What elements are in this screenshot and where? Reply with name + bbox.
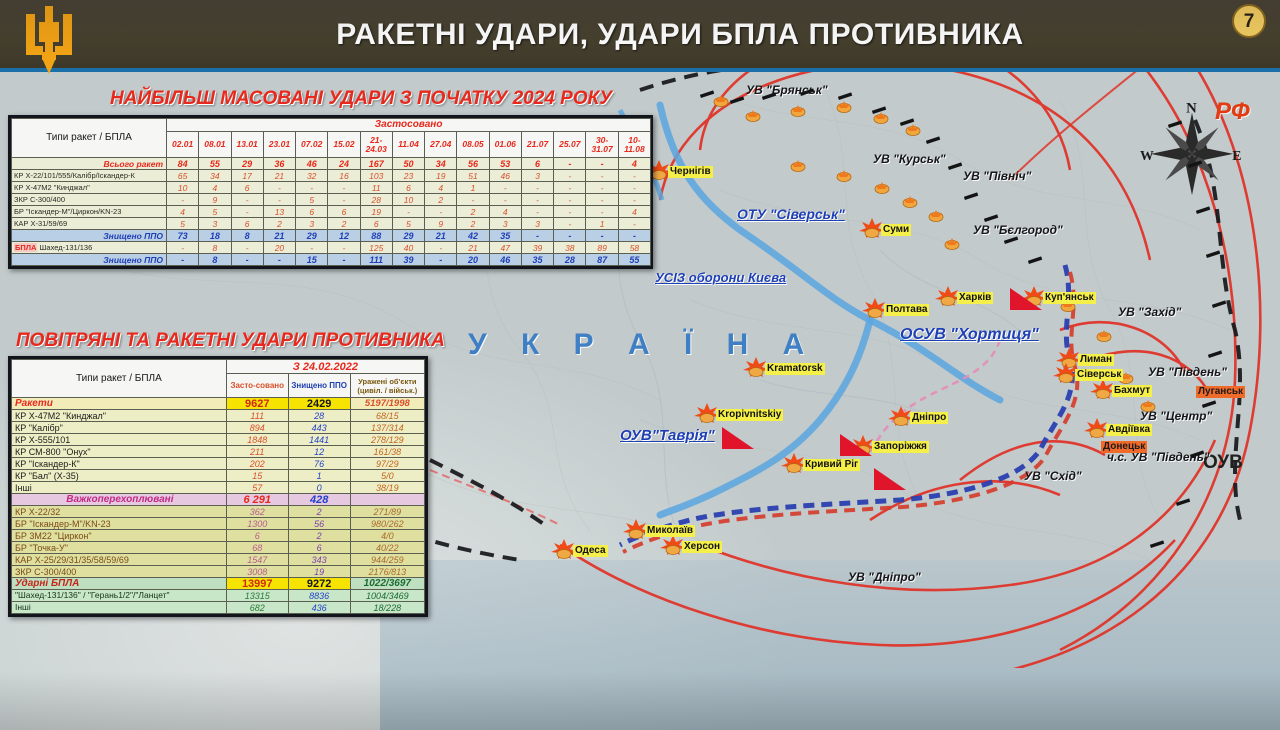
table2-cell-destroyed: 2429 (288, 398, 350, 410)
table1-cell: 46 (489, 254, 521, 266)
table1-date-header-0: 02.01 (167, 132, 199, 158)
table1-cell: 29 (296, 230, 328, 242)
table1-date-header-7: 11.04 (392, 132, 424, 158)
table1-row: ЗКР С-300/400-9--5-28102------ (12, 194, 651, 206)
table2-row: КР СМ-800 "Онyx"21112161/38 (12, 446, 425, 458)
table1-cell: 3 (489, 218, 521, 230)
table1-cell: 5 (296, 194, 328, 206)
formation-label-0: ОТУ "Сіверськ" (737, 206, 845, 222)
table2-row: КР Х-22/323622271/89 (12, 506, 425, 518)
table1-date-header-14: 10-11.08 (618, 132, 650, 158)
table1-cell: - (263, 194, 295, 206)
table2-row-label: БР 3М22 "Циркон" (12, 530, 227, 542)
city-label-kramatorsk: Kramatorsk (765, 363, 825, 375)
enemy-thrust-arrow-icon (872, 106, 890, 114)
enemy-thrust-arrow-icon (1206, 250, 1224, 258)
table1-cell: - (554, 230, 586, 242)
table2-row: Інші57038/19 (12, 482, 425, 494)
enemy-thrust-arrow-icon (984, 214, 1002, 222)
table1-cell: - (618, 182, 650, 194)
enemy-thrust-arrow-icon (900, 118, 918, 126)
table1-cell: 58 (618, 242, 650, 254)
table1-row-label: Знищено ППО (12, 254, 167, 266)
table1-row: Знищено ППО731882129128829214235---- (12, 230, 651, 242)
table1-cell: 2 (457, 206, 489, 218)
table1-cell: 6 (521, 158, 553, 170)
slide-number-badge: 7 (1232, 4, 1266, 38)
city-label--: Донецьк (1101, 441, 1147, 453)
table2-cell-destroyed: 19 (288, 566, 350, 578)
table1-cell: 3 (521, 218, 553, 230)
table2-cell-destroyed: 436 (288, 602, 350, 614)
table2-cell-destroyed: 0 (288, 482, 350, 494)
table2-row-label: ЗКР С-300/400 (12, 566, 227, 578)
table2-row: КР Х-555/10118481441278/129 (12, 434, 425, 446)
table2-row: БР "Точка-У"68640/22 (12, 542, 425, 554)
table1-cell: 19 (425, 170, 457, 182)
table2-row-label: КР "Калібр" (12, 422, 227, 434)
table1-cell: 12 (328, 230, 360, 242)
formation-label-3: ОУВ"Таврія" (620, 427, 715, 444)
table1-cell: 39 (392, 254, 424, 266)
table1-cell: - (554, 170, 586, 182)
table1-cell: - (554, 182, 586, 194)
table2-row: КАР Х-25/29/31/35/58/59/691547343944/259 (12, 554, 425, 566)
strike-marker-icon (902, 196, 918, 208)
table1-date-header-9: 08.05 (457, 132, 489, 158)
table1-cell: - (586, 206, 618, 218)
table2-row-label: Інші (12, 482, 227, 494)
table1-row: КР Х-22/101/555/Калібр/Іскандер-К6534172… (12, 170, 651, 182)
table1-cell: 73 (167, 230, 199, 242)
table1-cell: - (521, 230, 553, 242)
table1-cell: 36 (263, 158, 295, 170)
table1-cell: 13 (263, 206, 295, 218)
table2-panel: Типи ракет / БПЛА З 24.02.2022 Засто-сов… (8, 356, 428, 617)
table1-cell: - (521, 182, 553, 194)
table2-row-label: Важкоперехоплювані (12, 494, 227, 506)
table2-row: КР "Іскандер-К"2027697/29 (12, 458, 425, 470)
table1-cell: 46 (296, 158, 328, 170)
city-label--: Харків (957, 292, 993, 304)
table1-cell: 34 (199, 170, 231, 182)
table2-cell-destroyed: 76 (288, 458, 350, 470)
table2-cell-used: 57 (226, 482, 288, 494)
uav-tag: БПЛА (14, 243, 37, 252)
table2-cell-destroyed: 28 (288, 410, 350, 422)
strike-marker-icon (928, 210, 944, 222)
table1-cell: 6 (392, 182, 424, 194)
table1-cell: 4 (489, 206, 521, 218)
table1-cell: 23 (392, 170, 424, 182)
table1-row-label: КАР Х-31/59/69 (12, 218, 167, 230)
enemy-thrust-arrow-icon (730, 96, 748, 104)
table1-cell: 2 (457, 218, 489, 230)
table2-cell-used: 6 291 (226, 494, 288, 506)
table1-row: БР "Іскандер-М"/Циркон/KN-2345-136619--2… (12, 206, 651, 218)
enemy-thrust-arrow-icon (1208, 350, 1226, 358)
enemy-group-label-4: УВ "Захід" (1118, 305, 1181, 319)
red-wedge-marker-icon (838, 432, 874, 458)
table1-row: КАР Х-31/59/69536232659233-1- (12, 218, 651, 230)
table1-cell: 4 (425, 182, 457, 194)
table1-cell: 1 (586, 218, 618, 230)
table1-row-label: Знищено ППО (12, 230, 167, 242)
table1-cell: 5 (392, 218, 424, 230)
table1-row: Всього ракет845529364624167503456536--4 (12, 158, 651, 170)
table2-cell-objects: 38/19 (350, 482, 424, 494)
table2-corner-header: Типи ракет / БПЛА (12, 360, 227, 398)
table1-cell: 87 (586, 254, 618, 266)
enemy-thrust-arrow-icon (800, 88, 818, 96)
strike-marker-icon (790, 160, 806, 172)
table2-cell-destroyed: 56 (288, 518, 350, 530)
enemy-group-label-8: УВ "Схід" (1024, 469, 1082, 483)
table1-row-label: КР Х-22/101/555/Калібр/Іскандер-К (12, 170, 167, 182)
table2-row-label: БР "Точка-У" (12, 542, 227, 554)
city-label--: Полтава (884, 304, 929, 316)
table1-cell: 21 (263, 230, 295, 242)
enemy-group-label-2: УВ "Північ" (963, 169, 1031, 183)
table2-cell-destroyed: 443 (288, 422, 350, 434)
table1-cell: 21 (425, 230, 457, 242)
table1-cell: 6 (328, 206, 360, 218)
table1-cell: 84 (167, 158, 199, 170)
enemy-group-label-5: УВ "Південь" (1148, 365, 1227, 379)
table1-cell: - (328, 254, 360, 266)
table1-row: БПЛА Шахед-131/136-8-20--12540-214739388… (12, 242, 651, 254)
table1-title: НАЙБІЛЬШ МАСОВАНІ УДАРИ З ПОЧАТКУ 2024 Р… (110, 88, 612, 110)
enemy-group-label-3: УВ "Бєлгород" (973, 223, 1063, 237)
table1-cell: 5 (199, 206, 231, 218)
table1-cell: 2 (425, 194, 457, 206)
enemy-thrust-arrow-icon (762, 92, 780, 100)
table1-row-label: КР Х-47М2 "Кинджал" (12, 182, 167, 194)
enemy-thrust-arrow-icon (1202, 400, 1220, 408)
strike-marker-icon (1140, 400, 1156, 412)
table1-cell: 167 (360, 158, 392, 170)
table1-cell: 28 (554, 254, 586, 266)
table1-group-header: Застосовано (167, 119, 651, 132)
table1-cell: 51 (457, 170, 489, 182)
table2-cell-used: 15 (226, 470, 288, 482)
table2-cell-destroyed: 12 (288, 446, 350, 458)
table2-cell-used: 1848 (226, 434, 288, 446)
table1-cell: 6 (231, 218, 263, 230)
table1-cell: 6 (231, 182, 263, 194)
table2-cell-destroyed: 9272 (288, 578, 350, 590)
table1-panel: Типи ракет / БПЛА Застосовано 02.0108.01… (8, 115, 653, 269)
table1-date-header-4: 07.02 (296, 132, 328, 158)
table1-date-header-10: 01.06 (489, 132, 521, 158)
red-wedge-marker-icon (1008, 286, 1044, 312)
enemy-group-label-1: УВ "Курськ" (873, 152, 946, 166)
table1-cell: - (231, 194, 263, 206)
table1-cell: - (231, 254, 263, 266)
table1-cell: - (586, 182, 618, 194)
table2-cell-objects: 18/228 (350, 602, 424, 614)
table1-cell: - (618, 230, 650, 242)
table2-cell-used: 894 (226, 422, 288, 434)
table1-row-label: БР "Іскандер-М"/Циркон/KN-23 (12, 206, 167, 218)
city-label--: Чернігів (668, 166, 713, 178)
table2-cell-objects: 944/259 (350, 554, 424, 566)
table2-cell-objects (350, 494, 424, 506)
enemy-thrust-arrow-icon (964, 192, 982, 200)
table1-cell: 89 (586, 242, 618, 254)
table1-cell: 47 (489, 242, 521, 254)
enemy-group-label-9: УВ "Дніпро" (848, 570, 921, 584)
table2-cell-used: 362 (226, 506, 288, 518)
city-label--: Одеса (573, 545, 608, 557)
table1-cell: 16 (328, 170, 360, 182)
table2-row: БР "Іскандер-М"/KN-23130056980/262 (12, 518, 425, 530)
table1-cell: - (263, 182, 295, 194)
table1-cell: - (521, 206, 553, 218)
enemy-thrust-arrow-icon (1004, 236, 1022, 244)
table2-row: КР "Калібр"894443137/314 (12, 422, 425, 434)
table1-cell: 2 (263, 218, 295, 230)
table1-cell: - (586, 158, 618, 170)
table1-cell: 5 (167, 218, 199, 230)
table2-row-label: КР Х-555/101 (12, 434, 227, 446)
table2-row-label: Інші (12, 602, 227, 614)
table2-cell-used: 1547 (226, 554, 288, 566)
table1-cell: 8 (231, 230, 263, 242)
table1-cell: - (231, 242, 263, 254)
table1-cell: 21 (457, 242, 489, 254)
strike-marker-icon (790, 105, 806, 117)
table1-cell: - (167, 194, 199, 206)
strike-marker-icon (944, 238, 960, 250)
table1-cell: 103 (360, 170, 392, 182)
table2-title: ПОВІТРЯНІ ТА РАКЕТНІ УДАРИ ПРОТИВНИКА (16, 330, 445, 352)
strike-marker-icon (874, 182, 890, 194)
table2-col-used: Засто-совано (226, 374, 288, 398)
enemy-thrust-arrow-icon (700, 90, 718, 98)
table2-row-label: КР СМ-800 "Онyx" (12, 446, 227, 458)
city-label--: Лиман (1078, 354, 1114, 366)
formation-label-2: ОСУВ "Хортиця" (900, 326, 1039, 344)
table2-cell-destroyed: 343 (288, 554, 350, 566)
formation-label-1: УСІЗ оборони Києва (655, 270, 786, 285)
enemy-thrust-arrow-icon (1028, 256, 1046, 264)
table1-cell: 2 (328, 218, 360, 230)
table2-cell-objects: 980/262 (350, 518, 424, 530)
table2-cell-used: 9627 (226, 398, 288, 410)
table1-cell: 17 (231, 170, 263, 182)
table1-cell: 4 (618, 206, 650, 218)
table1-cell: - (521, 194, 553, 206)
table2-cell-objects: 5197/1998 (350, 398, 424, 410)
table1-cell: - (167, 242, 199, 254)
table2-cell-objects: 1004/3469 (350, 590, 424, 602)
table1-cell: 111 (360, 254, 392, 266)
table1-row-label: БПЛА Шахед-131/136 (12, 242, 167, 254)
table1-cell: - (489, 182, 521, 194)
table2-cell-used: 13315 (226, 590, 288, 602)
table1-cell: 3 (521, 170, 553, 182)
table1-cell: - (554, 218, 586, 230)
table1-cell: - (586, 194, 618, 206)
city-label--: Куп'янськ (1043, 292, 1096, 304)
table2-cell-objects: 68/15 (350, 410, 424, 422)
city-label--: Миколаїв (645, 525, 695, 537)
table1-cell: 56 (457, 158, 489, 170)
table1-cell: - (167, 254, 199, 266)
table1-cell: - (586, 170, 618, 182)
table2-row-label: Ударні БПЛА (12, 578, 227, 590)
city-label--: Кривий Ріг (803, 459, 860, 471)
table1-cell: 55 (618, 254, 650, 266)
table2-row: КР Х-47М2 "Кинджал"1112868/15 (12, 410, 425, 422)
enemy-thrust-arrow-icon (1190, 450, 1208, 458)
table1-cell: 35 (521, 254, 553, 266)
enemy-thrust-arrow-icon (1168, 120, 1186, 128)
table1-cell: - (618, 194, 650, 206)
tryzub-emblem-icon (18, 2, 80, 78)
table1-cell: 46 (489, 170, 521, 182)
table2-body: Ракети962724295197/1998КР Х-47М2 "Кинджа… (12, 398, 425, 614)
table2-cell-used: 111 (226, 410, 288, 422)
table1-cell: 6 (360, 218, 392, 230)
table1-cell: - (618, 170, 650, 182)
city-label--: Херсон (682, 541, 722, 553)
table1-cell: 9 (199, 194, 231, 206)
city-label-kropivnitskiy: Kropivnitskiy (716, 409, 783, 421)
table1-cell: 8 (199, 254, 231, 266)
strike-marker-icon (836, 170, 852, 182)
table2-cell-destroyed: 8836 (288, 590, 350, 602)
table2-cell-destroyed: 1 (288, 470, 350, 482)
compass-east-label: E (1232, 148, 1241, 163)
table2-cell-objects: 271/89 (350, 506, 424, 518)
table1-cell: - (425, 206, 457, 218)
table1-date-header-12: 25.07 (554, 132, 586, 158)
table1-cell: - (457, 194, 489, 206)
table2-cell-destroyed: 2 (288, 530, 350, 542)
table2-cell-used: 211 (226, 446, 288, 458)
city-label--: Сіверськ (1075, 369, 1123, 381)
table1-head: Типи ракет / БПЛА Застосовано 02.0108.01… (12, 119, 651, 158)
table1-cell: 3 (296, 218, 328, 230)
table1-cell: 29 (392, 230, 424, 242)
table1-cell: 38 (554, 242, 586, 254)
table2-cell-objects: 2176/813 (350, 566, 424, 578)
table1-cell: - (586, 230, 618, 242)
table2: Типи ракет / БПЛА З 24.02.2022 Засто-сов… (11, 359, 425, 614)
table1-cell: 39 (521, 242, 553, 254)
table1-cell: - (392, 206, 424, 218)
table2-cell-objects: 278/129 (350, 434, 424, 446)
table2-cell-objects: 5/0 (350, 470, 424, 482)
table1-cell: - (231, 206, 263, 218)
table1-cell: - (425, 242, 457, 254)
strike-marker-icon (1096, 330, 1112, 342)
table1-cell: - (425, 254, 457, 266)
table1-cell: 42 (457, 230, 489, 242)
red-wedge-marker-icon (872, 466, 908, 492)
enemy-thrust-arrow-icon (1176, 498, 1194, 506)
table2-row-label: КАР Х-25/29/31/35/58/59/69 (12, 554, 227, 566)
table2-cell-objects: 40/22 (350, 542, 424, 554)
table2-cell-destroyed: 2 (288, 506, 350, 518)
table1-cell: 65 (167, 170, 199, 182)
table2-head: Типи ракет / БПЛА З 24.02.2022 Засто-сов… (12, 360, 425, 398)
table1-date-header-1: 08.01 (199, 132, 231, 158)
enemy-thrust-arrow-icon (948, 162, 966, 170)
compass-north-label: N (1186, 101, 1197, 117)
table1-cell: 32 (296, 170, 328, 182)
table2-row: "Шахед-131/136" / "Герань1/2"/"Ланцет"13… (12, 590, 425, 602)
table1-cell: - (296, 242, 328, 254)
enemy-thrust-arrow-icon (1150, 540, 1168, 548)
page-title: РАКЕТНІ УДАРИ, УДАРИ БПЛА ПРОТИВНИКА (240, 12, 1120, 60)
table2-row-label: КР "Іскандер-К" (12, 458, 227, 470)
table1-cell: 18 (199, 230, 231, 242)
table1-cell: - (618, 218, 650, 230)
table1-cell: 19 (360, 206, 392, 218)
table2-row: Ударні БПЛА1399792721022/3697 (12, 578, 425, 590)
table2-row: Інші68243618/228 (12, 602, 425, 614)
table1-cell: 4 (167, 206, 199, 218)
table1-cell: 3 (199, 218, 231, 230)
table2-row: ЗКР С-300/4003008192176/813 (12, 566, 425, 578)
slide-root: N W E У К Р А Ї Н А РФ ОУВ ОТУ "Сіверськ… (0, 0, 1280, 730)
enemy-thrust-arrow-icon (838, 92, 856, 100)
enemy-thrust-arrow-icon (1188, 160, 1206, 168)
table2-row: КР "Бал" (Х-35)1515/0 (12, 470, 425, 482)
table2-cell-destroyed: 6 (288, 542, 350, 554)
table2-cell-objects: 1022/3697 (350, 578, 424, 590)
table1-date-header-3: 23.01 (263, 132, 295, 158)
table2-cell-destroyed: 1441 (288, 434, 350, 446)
table1-row-label: Всього ракет (12, 158, 167, 170)
table2-cell-used: 3008 (226, 566, 288, 578)
table2-head-row-1: Типи ракет / БПЛА З 24.02.2022 (12, 360, 425, 374)
table1-cell: 10 (392, 194, 424, 206)
table1-cell: 53 (489, 158, 521, 170)
table2-row-label: КР "Бал" (Х-35) (12, 470, 227, 482)
label-russian-federation: РФ (1215, 98, 1250, 126)
city-label--: Суми (881, 224, 911, 236)
table2-cell-objects: 161/38 (350, 446, 424, 458)
table2-cell-destroyed: 428 (288, 494, 350, 506)
table1-cell: 125 (360, 242, 392, 254)
city-label--: Запоріжжя (872, 441, 929, 453)
table1-row: КР Х-47М2 "Кинджал"1046---11641----- (12, 182, 651, 194)
table2-cell-used: 682 (226, 602, 288, 614)
table2-row: Ракети962724295197/1998 (12, 398, 425, 410)
table1-cell: 40 (392, 242, 424, 254)
table2-row: БР 3М22 "Циркон"624/0 (12, 530, 425, 542)
enemy-thrust-arrow-icon (1212, 300, 1230, 308)
table1-cell: 28 (360, 194, 392, 206)
city-label--: Авдіївка (1106, 424, 1152, 436)
table2-cell-objects: 97/29 (350, 458, 424, 470)
city-label--: Бахмут (1112, 385, 1152, 397)
strike-marker-icon (745, 110, 761, 122)
table1-cell: 21 (263, 170, 295, 182)
table2-cell-used: 68 (226, 542, 288, 554)
red-wedge-marker-icon (720, 425, 756, 451)
table1-date-header-8: 27.04 (425, 132, 457, 158)
enemy-thrust-arrow-icon (1196, 206, 1214, 214)
table1-head-row-1: Типи ракет / БПЛА Застосовано (12, 119, 651, 132)
table1-cell: 34 (425, 158, 457, 170)
table1-cell: 8 (199, 242, 231, 254)
table2-col-destroyed: Знищено ППО (288, 374, 350, 398)
